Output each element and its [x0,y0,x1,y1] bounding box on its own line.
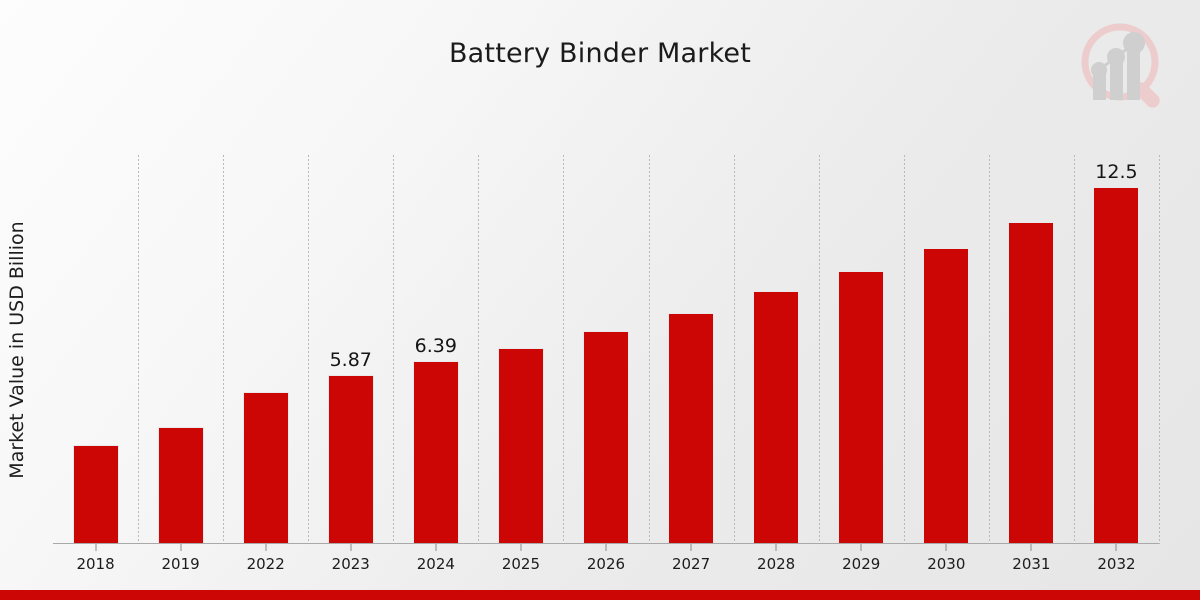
bar-2023[interactable] [328,375,374,544]
bar-2022[interactable] [243,392,289,544]
x-tick-label-2027: 2027 [672,555,710,573]
x-tick-label-2026: 2026 [587,555,625,573]
y-axis-label-wrapper: Market Value in USD Billion [0,155,34,545]
plot-area: 2018201920225.8720236.392024202520262027… [53,155,1159,544]
bar-2029[interactable] [838,271,884,544]
x-tick-mark-2027 [691,544,692,551]
bar-value-label-2032: 12.5 [1095,161,1137,183]
x-tick-mark-2026 [605,544,606,551]
bar-group[interactable]: 6.392024 [393,155,478,544]
y-axis-label: Market Value in USD Billion [6,221,28,478]
x-axis-baseline [53,543,1159,544]
x-tick-mark-2031 [1031,544,1032,551]
x-tick-mark-2019 [180,544,181,551]
bar-group[interactable]: 2031 [989,155,1074,544]
bar-2030[interactable] [923,248,969,544]
footer-accent-strip [0,590,1200,600]
bar-group[interactable]: 2030 [904,155,989,544]
x-tick-label-2019: 2019 [162,555,200,573]
bar-group[interactable]: 5.872023 [308,155,393,544]
x-tick-label-2022: 2022 [247,555,285,573]
bar-2018[interactable] [73,445,119,544]
bar-2027[interactable] [668,313,714,544]
bar-group[interactable]: 2022 [223,155,308,544]
bar-2019[interactable] [158,427,204,544]
x-tick-label-2029: 2029 [842,555,880,573]
chart-container: Battery Binder Market Market Value in US… [0,0,1200,600]
bar-group[interactable]: 2028 [734,155,819,544]
bar-group[interactable]: 12.52032 [1074,155,1159,544]
x-tick-mark-2029 [861,544,862,551]
bar-2032[interactable] [1093,187,1139,544]
bar-2031[interactable] [1008,222,1054,544]
x-tick-label-2018: 2018 [76,555,114,573]
bar-2026[interactable] [583,331,629,544]
page-title: Battery Binder Market [0,38,1200,69]
bar-group[interactable]: 2019 [138,155,223,544]
x-tick-label-2032: 2032 [1097,555,1135,573]
x-tick-label-2031: 2031 [1012,555,1050,573]
market-research-magnifier-logo [1068,14,1178,119]
x-tick-mark-2030 [946,544,947,551]
x-tick-mark-2024 [435,544,436,551]
bar-value-label-2023: 5.87 [330,349,372,371]
x-tick-label-2024: 2024 [417,555,455,573]
x-tick-mark-2018 [95,544,96,551]
x-tick-label-2030: 2030 [927,555,965,573]
bar-2024[interactable] [413,361,459,544]
bar-group[interactable]: 2025 [478,155,563,544]
x-tick-mark-2028 [776,544,777,551]
bar-group[interactable]: 2027 [649,155,734,544]
bar-2025[interactable] [498,348,544,544]
bar-2028[interactable] [753,291,799,544]
bars-layer: 2018201920225.8720236.392024202520262027… [53,155,1159,544]
bar-group[interactable]: 2026 [563,155,648,544]
bar-group[interactable]: 2018 [53,155,138,544]
x-tick-mark-2032 [1116,544,1117,551]
x-tick-label-2028: 2028 [757,555,795,573]
x-tick-mark-2023 [350,544,351,551]
x-tick-mark-2025 [520,544,521,551]
gridline [1159,155,1160,544]
bar-value-label-2024: 6.39 [415,335,457,357]
bar-group[interactable]: 2029 [819,155,904,544]
x-tick-label-2025: 2025 [502,555,540,573]
x-tick-label-2023: 2023 [332,555,370,573]
x-tick-mark-2022 [265,544,266,551]
